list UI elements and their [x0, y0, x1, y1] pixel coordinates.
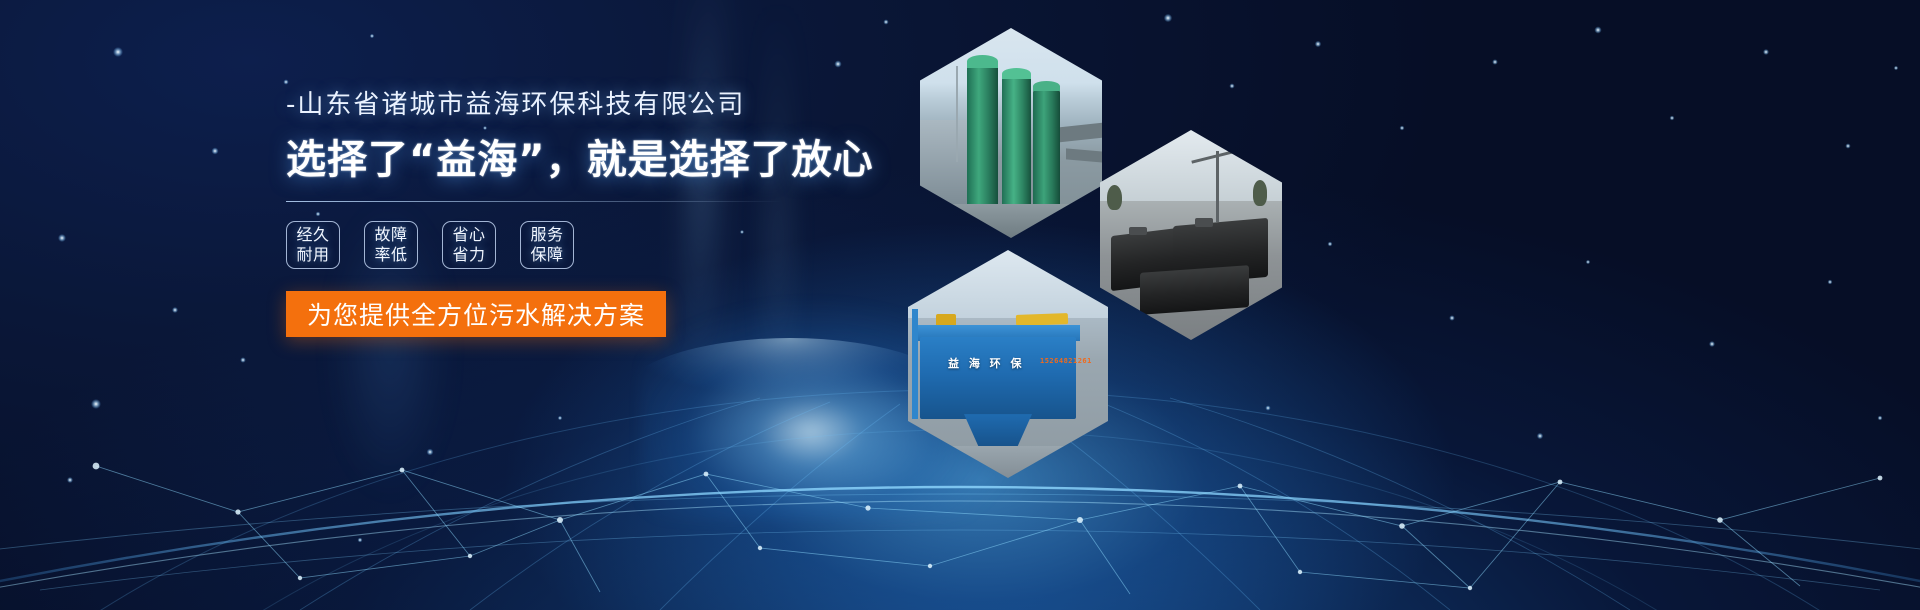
badge-line-2: 率低 [374, 245, 407, 265]
plant-building [920, 120, 967, 204]
feature-badge-list: 经久 耐用 故障 率低 省心 省力 服务 保障 [286, 221, 846, 269]
hero-banner: -山东省诸城市益海环保科技有限公司 选择了“益海”，就是选择了放心 经久 耐用 … [0, 0, 1920, 610]
crane-mast [1216, 151, 1219, 222]
tank-manhole [1129, 227, 1147, 235]
duct [1060, 122, 1102, 141]
badge-line-1: 故障 [374, 225, 407, 245]
photo-hex-flotation-machine[interactable]: 益 海 环 保 15264821261 [908, 250, 1108, 478]
photo-scrubber-towers [920, 28, 1102, 238]
badge-line-1: 经久 [296, 225, 329, 245]
feature-badge-effortless[interactable]: 省心 省力 [442, 221, 496, 269]
duct [1066, 148, 1102, 162]
tower [1033, 87, 1060, 217]
page-title: 选择了“益海”，就是选择了放心 [286, 138, 846, 183]
feature-badge-low-failure[interactable]: 故障 率低 [364, 221, 418, 269]
tower [967, 62, 998, 217]
badge-line-1: 服务 [530, 225, 563, 245]
cta-button[interactable]: 为您提供全方位污水解决方案 [286, 291, 666, 337]
company-eyebrow: -山东省诸城市益海环保科技有限公司 [286, 92, 846, 118]
photo-air-flotation: 益 海 环 保 15264821261 [908, 250, 1108, 478]
pipe [1016, 313, 1068, 326]
sky [908, 250, 1108, 318]
tower-cap [967, 55, 998, 68]
tree [1107, 185, 1122, 210]
ground [920, 204, 1102, 238]
ground [908, 446, 1108, 478]
machine-phone-text: 15264821261 [1040, 357, 1092, 365]
tower [1002, 74, 1031, 217]
photo-buried-tanks [1100, 130, 1282, 340]
divider [286, 201, 782, 202]
mast [956, 66, 958, 163]
badge-line-2: 保障 [530, 245, 563, 265]
tree [1253, 180, 1268, 205]
badge-line-2: 省力 [452, 245, 485, 265]
badge-line-1: 省心 [452, 225, 485, 245]
tank-manhole [1195, 218, 1213, 226]
feature-badge-service[interactable]: 服务 保障 [520, 221, 574, 269]
machine-body [920, 337, 1076, 419]
tower-cap [1033, 81, 1060, 92]
photo-hex-scrubber-towers[interactable] [920, 28, 1102, 238]
frame [912, 309, 918, 418]
tower-cap [1002, 68, 1031, 80]
hero-copy: -山东省诸城市益海环保科技有限公司 选择了“益海”，就是选择了放心 经久 耐用 … [286, 92, 846, 337]
feature-badge-durable[interactable]: 经久 耐用 [286, 221, 340, 269]
badge-line-2: 耐用 [296, 245, 329, 265]
tank [1140, 265, 1249, 315]
photo-hex-buried-tanks[interactable] [1100, 130, 1282, 340]
